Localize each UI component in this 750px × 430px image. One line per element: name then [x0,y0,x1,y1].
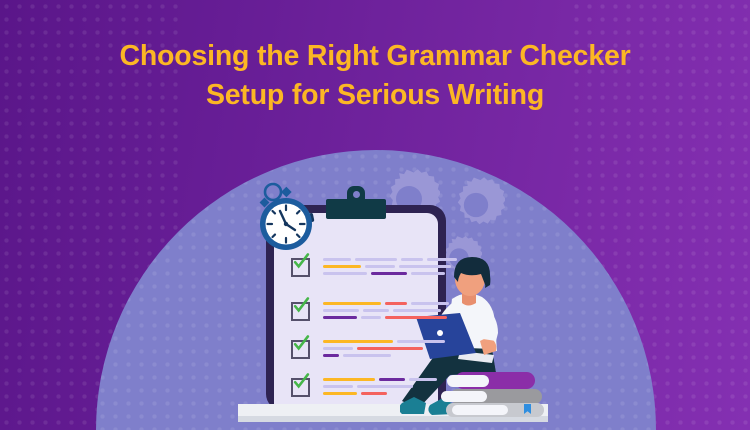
text-line-segment [385,302,407,305]
text-line-segment [323,392,357,395]
text-line-segment [323,258,351,261]
text-line-segment [371,272,407,275]
text-line-segment [323,385,353,388]
text-line-segment [323,309,359,312]
stopwatch-icon [240,180,324,262]
text-line-segment [323,347,353,350]
text-lines [323,302,453,323]
text-line-segment [409,378,437,381]
book-light-gray-pages [452,405,508,415]
text-line-segment [323,265,361,268]
text-line-segment [365,265,395,268]
text-line-segment [361,316,381,319]
text-line-segment [393,309,441,312]
text-line-segment [323,316,357,319]
check-icon [293,335,310,352]
text-line-segment [411,302,449,305]
text-line-segment [357,385,413,388]
text-line-segment [355,258,397,261]
gear-icon-large-right [447,176,505,234]
text-line-segment [379,378,405,381]
book-purple-pages [447,375,489,387]
clipboard-clip-icon [326,199,386,219]
text-line-segment [401,258,423,261]
text-line-segment [357,347,423,350]
text-line-segment [427,258,457,261]
page-title-line-1: Choosing the Right Grammar Checker [0,37,750,76]
text-line-segment [399,265,451,268]
banner-canvas: Choosing the Right Grammar Checker Setup… [0,0,750,430]
book-gray-pages [441,391,487,402]
text-line-segment [363,309,389,312]
text-line-segment [323,340,393,343]
text-lines [323,378,441,399]
page-title: Choosing the Right Grammar Checker Setup… [0,37,750,116]
text-line-segment [343,354,391,357]
text-lines [323,258,461,279]
text-line-segment [323,378,375,381]
check-icon [293,373,310,390]
text-line-segment [361,392,387,395]
text-line-segment [385,316,447,319]
text-line-segment [323,302,381,305]
page-title-line-2: Setup for Serious Writing [0,76,750,115]
text-line-segment [397,340,445,343]
text-line-segment [323,272,367,275]
text-line-segment [323,354,339,357]
text-line-segment [411,272,445,275]
text-lines [323,340,449,361]
check-icon [293,297,310,314]
